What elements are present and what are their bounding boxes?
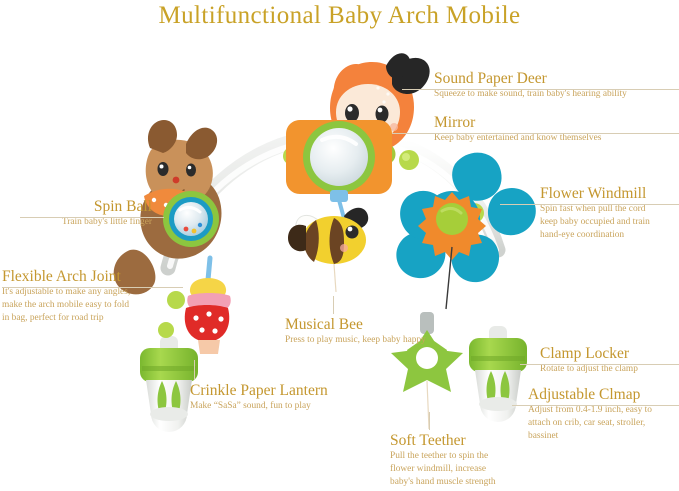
callout-desc-line: flower windmill, increase (390, 463, 570, 476)
leader-line-soft-teether (429, 412, 430, 430)
callout-flexible-arch-joint: Flexible Arch Joint It's adjustable to m… (2, 268, 177, 325)
callout-musical-bee: Musical Bee Press to play music, keep ba… (285, 316, 495, 347)
callout-desc-line: Press to play music, keep baby happy (285, 334, 495, 347)
callout-clamp-locker: Clamp Locker Rotate to adjust the clamp (540, 345, 679, 376)
callout-title: Soft Teether (390, 432, 570, 450)
flower-windmill (396, 153, 535, 309)
callout-rule-flexible-arch-joint (2, 287, 177, 288)
leader-line-musical-bee (333, 296, 334, 314)
leader-line-mirror (392, 133, 436, 134)
callout-desc-line: Rotate to adjust the clamp (540, 363, 679, 376)
leader-line-sound-paper-deer (402, 89, 436, 90)
callout-title: Crinkle Paper Lantern (190, 382, 390, 400)
callout-rule-adjustable-clamp (528, 405, 679, 406)
callout-desc-line: keep baby occupied and train (540, 216, 679, 229)
callout-title: Spin Ball (2, 198, 152, 216)
infographic-page: Multifunctional Baby Arch Mobile (0, 0, 679, 491)
callout-rule-flower-windmill (540, 204, 679, 205)
callout-crinkle-paper-lantern: Crinkle Paper Lantern Make “SaSa” sound,… (190, 382, 390, 413)
leader-line-spin-ball (150, 217, 164, 218)
callout-title: Flexible Arch Joint (2, 268, 177, 286)
musical-bee (288, 200, 368, 292)
callout-title: Flower Windmill (540, 185, 679, 203)
callout-rule-mirror (434, 133, 679, 134)
callout-desc-line: in bag, perfect for road trip (2, 312, 177, 325)
leader-line-crinkle-paper-lantern (194, 360, 195, 380)
callout-desc-line: Spin fast when pull the cord (540, 203, 679, 216)
crinkle-paper-lantern (185, 258, 231, 354)
callout-title: Clamp Locker (540, 345, 679, 363)
callout-desc-line: Make “SaSa” sound, fun to play (190, 400, 390, 413)
callout-desc-line: Keep baby entertained and know themselve… (434, 132, 679, 145)
leader-line-flower-windmill (500, 204, 542, 205)
callout-desc-line: Adjust from 0.4-1.9 inch, easy to (528, 404, 679, 417)
callout-title: Adjustable Clmap (528, 386, 679, 404)
callout-desc-line: Squeeze to make sound, train baby's hear… (434, 88, 679, 101)
mirror (286, 120, 392, 202)
callout-soft-teether: Soft Teether Pull the teether to spin th… (390, 432, 570, 489)
callout-desc-line: attach on crib, car seat, stroller, (528, 417, 679, 430)
callout-desc-line: It's adjustable to make any angles, (2, 286, 177, 299)
callout-rule-spin-ball (20, 217, 155, 218)
callout-desc-line: Train baby's little finger (2, 216, 152, 229)
spin-ball (163, 191, 219, 247)
callout-mirror: Mirror Keep baby entertained and know th… (434, 114, 679, 145)
leader-line-adjustable-clamp (512, 405, 530, 406)
leader-line-clamp-locker (520, 364, 542, 365)
callout-flower-windmill: Flower Windmill Spin fast when pull the … (540, 185, 679, 242)
callout-title: Musical Bee (285, 316, 495, 334)
callout-desc-line: Pull the teether to spin the (390, 450, 570, 463)
callout-title: Mirror (434, 114, 679, 132)
callout-desc-line: baby's hand muscle strength (390, 476, 570, 489)
callout-rule-sound-paper-deer (434, 89, 679, 90)
callout-spin-ball: Spin Ball Train baby's little finger (2, 198, 152, 229)
callout-desc-line: hand-eye coordination (540, 229, 679, 242)
leader-line-flexible-arch-joint (175, 287, 183, 288)
callout-title: Sound Paper Deer (434, 70, 679, 88)
callout-sound-paper-deer: Sound Paper Deer Squeeze to make sound, … (434, 70, 679, 101)
callout-rule-clamp-locker (540, 364, 679, 365)
callout-desc-line: make the arch mobile easy to fold (2, 299, 177, 312)
